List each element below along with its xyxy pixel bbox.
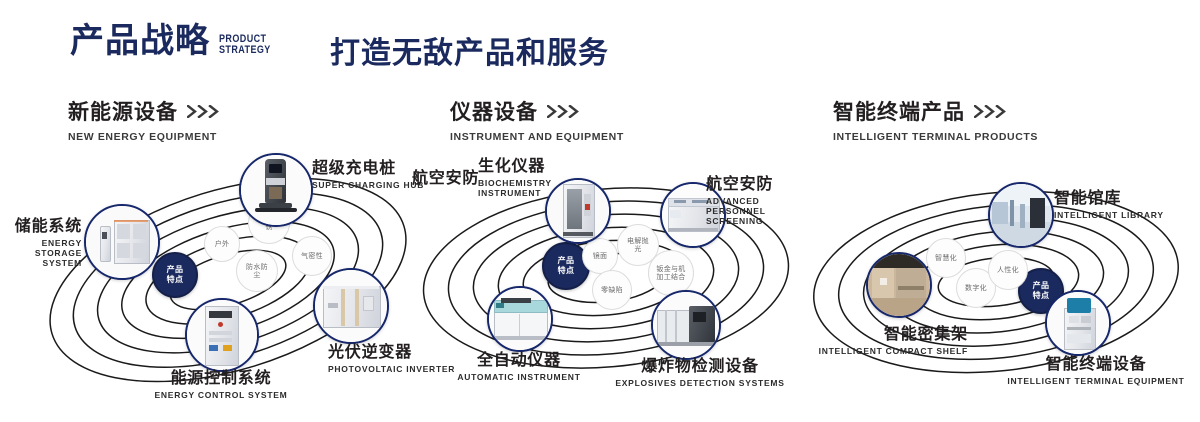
core-line2: 特点 — [558, 266, 575, 276]
feature-label: 气密性 — [300, 252, 324, 261]
core-line1: 产品 — [1033, 281, 1050, 291]
feature-label: 智慧化 — [933, 254, 959, 263]
section-title-instrument: 仪器设备 INSTRUMENT AND EQUIPMENT — [450, 96, 624, 143]
product-label-biochemistry: 生化仪器 BIOCHEMISTRY INSTRUMENT — [478, 152, 598, 198]
product-label-en: ENERGY CONTROL SYSTEM — [86, 390, 356, 400]
product-label-en: INTELLIGENT LIBRARY — [1054, 210, 1184, 220]
feature-label: 数字化 — [963, 284, 989, 293]
feature-label: 户外 — [215, 240, 230, 249]
compact-shelf-photo — [868, 254, 930, 316]
inverter-cabinet-photo — [315, 270, 387, 342]
product-label-en: EXPLOSIVES DETECTION SYSTEMS — [606, 378, 794, 388]
product-label-automatic-instrument: 全自动仪器 AUTOMATIC INSTRUMENT — [426, 346, 612, 382]
product-label-energy-storage: 储能系统 ENERGY STORAGE SYSTEM — [2, 212, 82, 268]
product-label-cn: 爆炸物检测设备 — [606, 352, 794, 376]
feature-label: 零缺陷 — [599, 286, 625, 295]
product-label-terminal-equipment: 智能终端设备 INTELLIGENT TERMINAL EQUIPMENT — [996, 350, 1196, 386]
headline: 打造无敌产品和服务 — [330, 28, 609, 72]
cluster-new-energy: 产品 特点 户外 防腐防锈 防水防尘 气密性 — [40, 150, 420, 400]
section-title-cn: 新能源设备 — [68, 96, 178, 126]
brand-title-cn: 产品战略 — [70, 24, 210, 58]
chevron-triple-right-icon — [974, 105, 1008, 118]
core-line1: 产品 — [167, 265, 184, 275]
section-title-cn: 仪器设备 — [450, 96, 538, 126]
product-node-terminal-equipment[interactable] — [1045, 290, 1111, 356]
product-label-cn: 储能系统 — [2, 212, 82, 236]
control-cabinet-photo — [187, 300, 257, 370]
charging-pile-photo — [241, 155, 311, 225]
product-label-compact-shelf: 智能密集架 INTELLIGENT COMPACT SHELF — [808, 320, 968, 356]
feature-bubble-mirror: 镜面 — [582, 238, 618, 274]
product-label-en: ENERGY STORAGE SYSTEM — [2, 238, 82, 268]
feature-bubble-smart: 智慧化 — [926, 238, 966, 278]
cluster-instrument: 产品 特点 镜面 电解抛光 钣金与机加工结合 零缺陷 航空安防 — [410, 150, 800, 400]
brand-lockup: 产品战略 PRODUCT STRATEGY — [70, 24, 282, 58]
product-node-compact-shelf[interactable] — [866, 252, 932, 318]
product-label-energy-control: 能源控制系统 ENERGY CONTROL SYSTEM — [86, 364, 356, 400]
product-node-intelligent-library[interactable] — [988, 182, 1054, 248]
product-node-pv-inverter[interactable] — [313, 268, 389, 344]
product-label-cn: 智能终端设备 — [996, 350, 1196, 374]
feature-bubble-outdoor: 户外 — [204, 226, 240, 262]
product-node-charging-hub[interactable] — [239, 153, 313, 227]
core-line1: 产品 — [558, 256, 575, 266]
product-label-cn: 能源控制系统 — [86, 364, 356, 388]
feature-bubble-humanized: 人性化 — [988, 250, 1028, 290]
product-label-cn: 全自动仪器 — [426, 346, 612, 370]
product-label-cn: 生化仪器 — [478, 152, 598, 176]
section-title-intelligent: 智能终端产品 INTELLIGENT TERMINAL PRODUCTS — [833, 96, 1038, 143]
library-interior-photo — [990, 184, 1052, 246]
section-title-cn: 智能终端产品 — [833, 96, 965, 126]
core-badge-product-features: 产品 特点 — [152, 252, 198, 298]
feature-label: 电解抛光 — [627, 237, 649, 254]
feature-label: 钣金与机加工结合 — [656, 265, 686, 282]
feature-bubble-zero-defect: 零缺陷 — [592, 270, 632, 310]
product-label-explosives-detection: 爆炸物检测设备 EXPLOSIVES DETECTION SYSTEMS — [606, 352, 794, 388]
product-label-en: INTELLIGENT COMPACT SHELF — [808, 346, 968, 356]
product-label-intelligent-library: 智能馆库 INTELLIGENT LIBRARY — [1054, 184, 1184, 220]
explosives-detector-photo — [653, 292, 719, 358]
section-title-en: INTELLIGENT TERMINAL PRODUCTS — [833, 131, 1038, 143]
product-node-energy-storage[interactable] — [84, 204, 160, 280]
section-title-new-energy: 新能源设备 NEW ENERGY EQUIPMENT — [68, 96, 221, 143]
automatic-instrument-photo — [489, 288, 551, 350]
chevron-triple-right-icon — [187, 105, 221, 118]
feature-bubble-waterproof: 防水防尘 — [236, 250, 278, 292]
product-node-energy-control[interactable] — [185, 298, 259, 372]
section-title-en: INSTRUMENT AND EQUIPMENT — [450, 131, 624, 143]
product-label-cn: 智能密集架 — [808, 320, 968, 344]
feature-label: 人性化 — [995, 266, 1021, 275]
brand-title-en-line2: STRATEGY — [219, 45, 271, 56]
poster-canvas: 产品战略 PRODUCT STRATEGY 打造无敌产品和服务 新能源设备 NE… — [0, 0, 1200, 422]
product-node-explosives-detection[interactable] — [651, 290, 721, 360]
product-node-automatic-instrument[interactable] — [487, 286, 553, 352]
product-label-en: BIOCHEMISTRY INSTRUMENT — [478, 178, 538, 198]
feature-label: 防水防尘 — [246, 263, 268, 280]
feature-label: 镜面 — [593, 252, 608, 261]
product-label-en: AUTOMATIC INSTRUMENT — [426, 372, 612, 382]
brand-title-en: PRODUCT STRATEGY — [219, 34, 271, 56]
product-label-en: ADVANCED PERSONNEL SCREENING — [706, 196, 802, 226]
product-label-en: INTELLIGENT TERMINAL EQUIPMENT — [996, 376, 1196, 386]
section-title-en: NEW ENERGY EQUIPMENT — [68, 131, 221, 143]
self-service-kiosk-photo — [1047, 292, 1109, 354]
battery-cabinet-photo — [86, 206, 158, 278]
chevron-triple-right-icon — [547, 105, 581, 118]
core-line2: 特点 — [167, 275, 184, 285]
product-label-cn: 智能馆库 — [1054, 184, 1184, 208]
cluster-intelligent-terminal: 产品 特点 智慧化 数字化 人性化 智能馆库 — [800, 150, 1200, 410]
